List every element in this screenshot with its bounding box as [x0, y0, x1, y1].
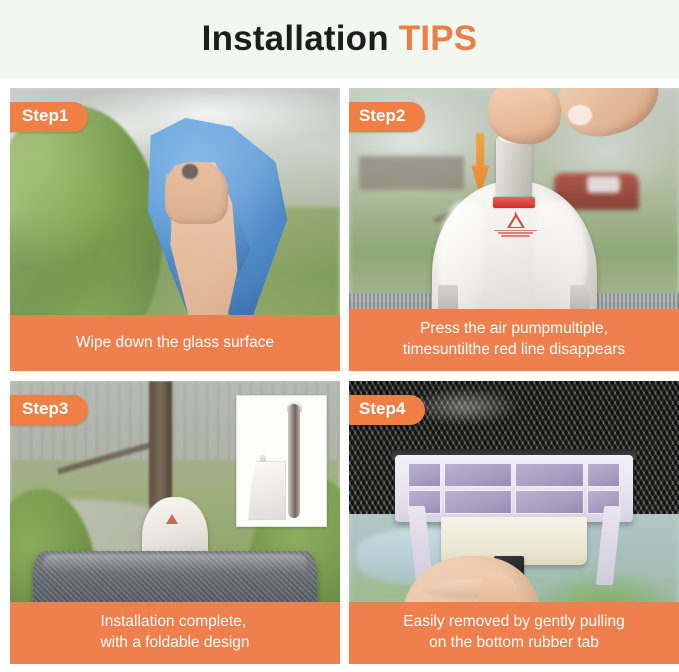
step-panel-2[interactable]: Step2 Press the air pumpmultiple, timesu… [349, 88, 679, 371]
step-caption-1: Wipe down the glass surface [10, 315, 340, 371]
infographic-page: Installation TIPS Step1 Wipe down the gl… [0, 0, 679, 672]
compartment [587, 463, 620, 487]
page-title-accent: TIPS [399, 19, 478, 58]
step-caption-2-text: Press the air pumpmultiple, timesuntilth… [403, 319, 625, 360]
compartment [444, 463, 512, 487]
step-caption-3-text: Installation complete, with a foldable d… [100, 612, 249, 653]
step-caption-3: Installation complete, with a foldable d… [10, 602, 340, 664]
red-indicator-line [493, 197, 536, 208]
page-title-main: Installation [202, 19, 399, 58]
header-banner: Installation TIPS [0, 0, 679, 78]
diagram-folded-bar [288, 404, 300, 519]
exclamation-mark-icon [515, 212, 517, 219]
step-caption-4-line1: Easily removed by gently pulling [403, 613, 624, 630]
compartment [515, 463, 583, 487]
shelf-compartments [408, 463, 619, 514]
step-badge-4: Step4 [349, 395, 425, 425]
label-text-line [494, 230, 537, 231]
step-caption-2-line1: Press the air pumpmultiple, [420, 320, 608, 337]
step-badge-2: Step2 [349, 102, 425, 132]
air-pump-plunger [496, 136, 532, 204]
shelf-highlight [43, 554, 307, 574]
compartment [444, 490, 512, 514]
warning-triangle-icon [166, 514, 178, 524]
tree-trunk-shape [149, 381, 172, 511]
building-blur-shape [359, 156, 465, 190]
step-caption-2: Press the air pumpmultiple, timesuntilth… [349, 309, 679, 371]
warning-label [491, 213, 541, 261]
step-badge-3: Step3 [10, 395, 88, 425]
step-caption-3-line1: Installation complete, [100, 613, 246, 630]
compartment [515, 490, 583, 514]
warning-label-text-lines [493, 230, 538, 237]
step-panel-3[interactable]: Step3 Installation complete, with a fold… [10, 381, 340, 664]
label-text-line [501, 235, 530, 236]
step-caption-4: Easily removed by gently pulling on the … [349, 602, 679, 664]
label-text-line [498, 232, 534, 233]
compartment [408, 463, 441, 487]
page-title: Installation TIPS [202, 19, 478, 59]
mesh-highlight [408, 387, 520, 427]
steps-grid: Step1 Wipe down the glass surface [10, 88, 669, 664]
fingernail-shape [568, 105, 591, 125]
diagram-plate [248, 461, 286, 520]
step-caption-4-text: Easily removed by gently pulling on the … [403, 612, 624, 653]
warning-triangle-icon [507, 213, 525, 228]
step-panel-1[interactable]: Step1 Wipe down the glass surface [10, 88, 340, 371]
step-caption-1-text: Wipe down the glass surface [76, 333, 274, 354]
step-caption-2-line2: timesuntilthe red line disappears [403, 341, 625, 358]
car-window-blur-shape [587, 176, 620, 193]
step-panel-4[interactable]: Step4 Easily removed by gently pulling o… [349, 381, 679, 664]
product-diagram-inset [236, 395, 327, 527]
step-caption-3-line2: with a foldable design [100, 634, 249, 651]
step-badge-1: Step1 [10, 102, 88, 132]
step-caption-4-line2: on the bottom rubber tab [429, 634, 599, 651]
